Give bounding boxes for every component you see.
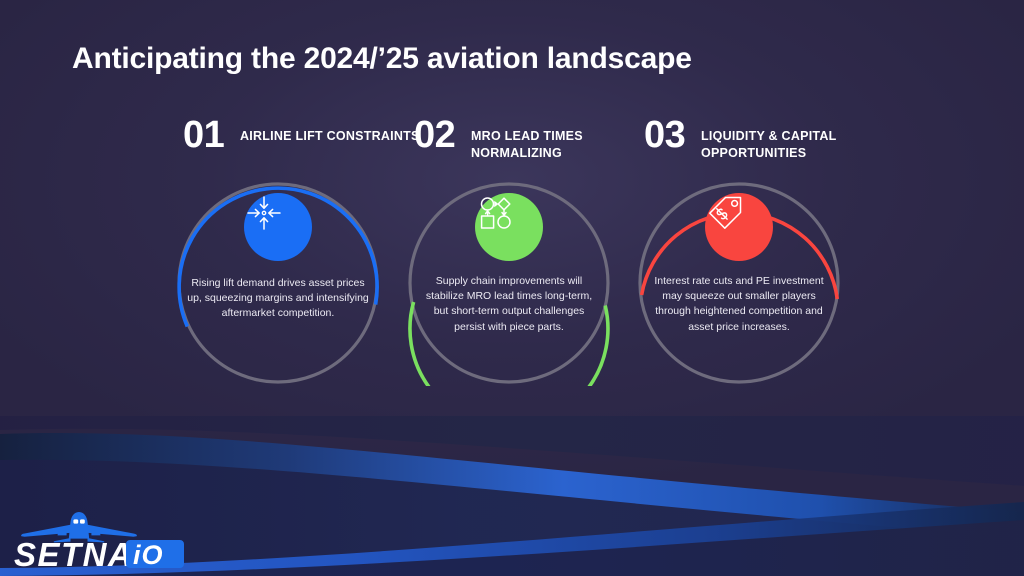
logo-wordmark: SETNA bbox=[14, 536, 133, 570]
price-tag-dollar-icon bbox=[705, 193, 745, 233]
slide-canvas: Anticipating the 2024/’25 aviation lands… bbox=[0, 0, 1024, 576]
pillar-header-3: 03 LIQUIDITY & CAPITAL OPPORTUNITIES bbox=[586, 120, 886, 180]
pillar-number-1: 01 bbox=[183, 116, 224, 154]
pillar-column-3: 03 LIQUIDITY & CAPITAL OPPORTUNITIES bbox=[586, 120, 886, 180]
page-title: Anticipating the 2024/’25 aviation lands… bbox=[72, 42, 692, 76]
pillar-body-1: Rising lift demand drives asset prices u… bbox=[183, 276, 373, 322]
pillar-icon-disc-1 bbox=[244, 193, 312, 261]
pillar-ring-1: Rising lift demand drives asset prices u… bbox=[175, 180, 381, 386]
pillar-body-2: Supply chain improvements will stabilize… bbox=[424, 274, 594, 335]
pillar-icon-disc-2 bbox=[475, 193, 543, 261]
pillar-number-3: 03 bbox=[644, 116, 685, 154]
logo-suffix: iO bbox=[133, 540, 164, 570]
pillar-icon-disc-3 bbox=[705, 193, 773, 261]
converge-arrows-icon bbox=[244, 193, 284, 233]
pillar-body-3: Interest rate cuts and PE investment may… bbox=[648, 274, 830, 335]
pillar-ring-2: Supply chain improvements will stabilize… bbox=[406, 180, 612, 386]
logo-graphic: SETNA iO bbox=[8, 508, 190, 570]
setna-io-logo: SETNA iO bbox=[8, 508, 190, 570]
pillar-ring-3: Interest rate cuts and PE investment may… bbox=[636, 180, 842, 386]
pillar-number-2: 02 bbox=[414, 116, 455, 154]
process-flow-icon bbox=[475, 193, 515, 233]
pillar-label-3: LIQUIDITY & CAPITAL OPPORTUNITIES bbox=[701, 128, 886, 162]
